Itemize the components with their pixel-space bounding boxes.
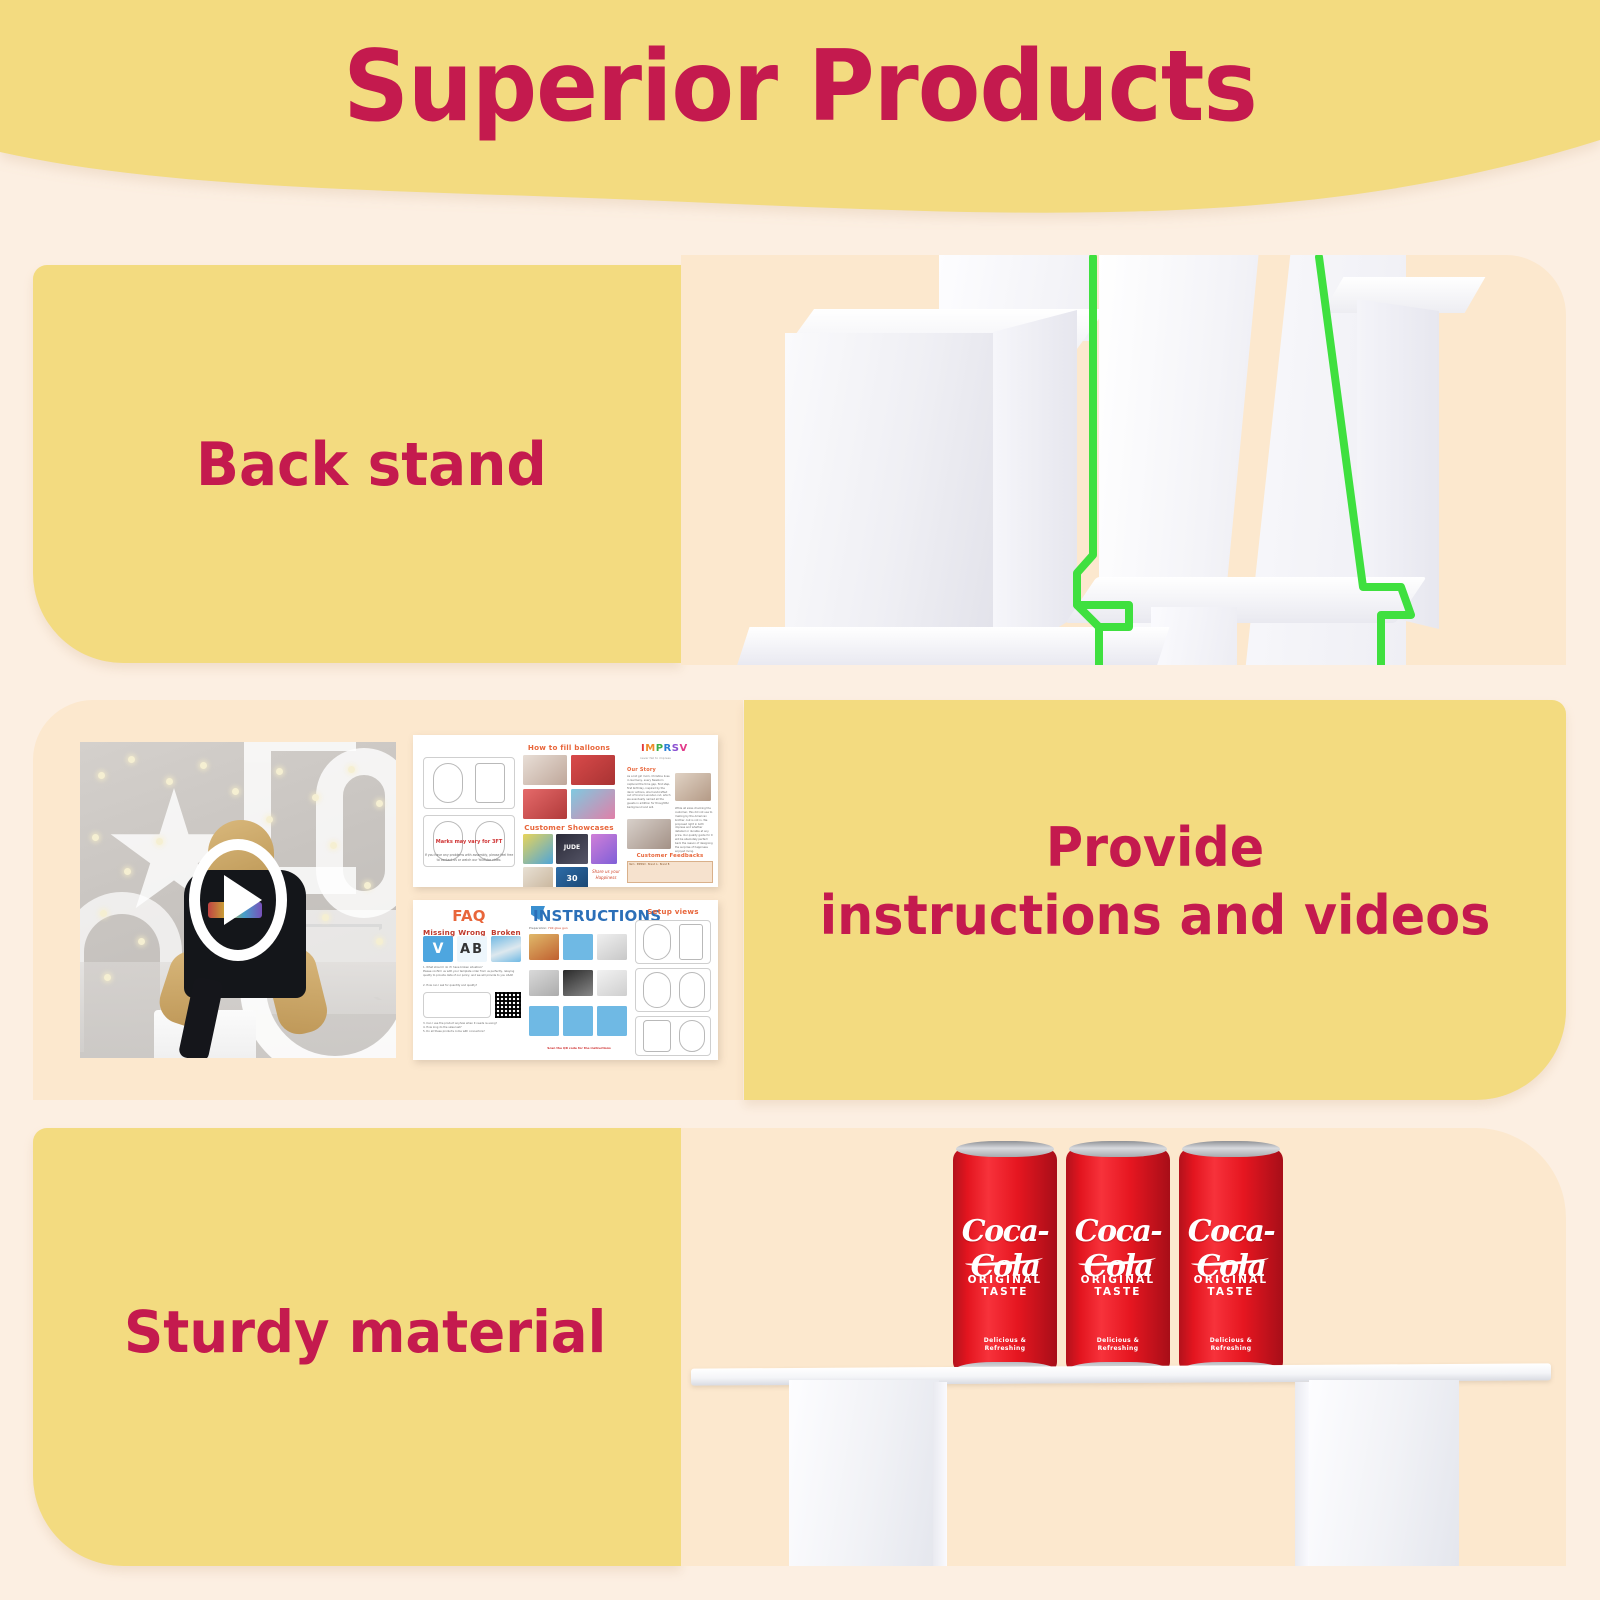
coke-can-3: Coca-Cola ORIGINAL TASTE Delicious &Refr… <box>1179 1148 1283 1372</box>
coke-footer-2: Delicious &Refreshing <box>1066 1337 1170 1354</box>
coke-can-2: Coca-Cola ORIGINAL TASTE Delicious &Refr… <box>1066 1148 1170 1372</box>
coke-footer-3: Delicious &Refreshing <box>1179 1337 1283 1354</box>
stand-box-front <box>785 333 993 665</box>
sheet-note-body: If you have any problems with assembly, … <box>423 853 515 862</box>
can-top-lid <box>1069 1141 1167 1157</box>
instructions-label-line1: Provide <box>769 818 1542 878</box>
sheet-heading-instructions: INSTRUCTIONS <box>533 907 633 925</box>
instruction-sheet-back: FAQ Missing pieces Wrong item Broken boa… <box>413 900 718 1060</box>
can-top-lid <box>956 1141 1054 1157</box>
stand-box-side <box>993 310 1077 665</box>
ab-letter-b: B <box>472 942 484 957</box>
sturdy-material-label: Sturdy material <box>124 1300 606 1365</box>
showcase-word-jude: JUDE <box>556 843 588 852</box>
shelf-leg-right <box>1309 1380 1459 1566</box>
imprsv-logo: IMPRSV <box>641 743 688 754</box>
marquee-number-0 <box>316 748 396 918</box>
stand-bottom-bar <box>737 627 1170 665</box>
page-title: Superior Products <box>56 30 1544 144</box>
stand-base-plate <box>1065 577 1426 623</box>
sheet-heading-faq: FAQ <box>421 907 517 925</box>
sheet-heading-setup-views: Setup views <box>635 907 711 916</box>
coke-tagline-1: ORIGINAL TASTE <box>953 1274 1057 1298</box>
sheet-heading-showcases: Customer Showcases <box>521 823 617 832</box>
sturdy-material-photo: Coca-Cola ORIGINAL TASTE Delicious &Refr… <box>681 1128 1566 1566</box>
prep-value: Hot glue gun <box>548 926 567 930</box>
back-stand-photo <box>681 255 1566 665</box>
sheet-heading-fill-balloons: How to fill balloons <box>521 743 617 752</box>
back-stand-label-panel: Back stand <box>33 265 681 663</box>
instruction-sheet-front: Marks may vary for 3FT If you have any p… <box>413 735 718 887</box>
imprsv-tagline: never fail to impress <box>640 756 671 760</box>
prep-label: Preparation: <box>529 926 547 930</box>
sheet-note-red: Marks may vary for 3FT <box>421 839 517 847</box>
showcase-word-30: 30 <box>556 873 588 885</box>
coke-tagline-3: ORIGINAL TASTE <box>1179 1274 1283 1298</box>
can-top-lid <box>1182 1141 1280 1157</box>
sheet-heading-our-story: Our Story <box>627 767 667 773</box>
sheet-footer-note: Scan the QR code for the instructions <box>529 1046 629 1051</box>
sturdy-material-label-panel: Sturdy material <box>33 1128 681 1566</box>
coke-can-1: Coca-Cola ORIGINAL TASTE Delicious &Refr… <box>953 1148 1057 1372</box>
page-header: Superior Products <box>0 0 1600 230</box>
instructions-label-panel: Provide instructions and videos <box>744 700 1566 1100</box>
back-stand-label: Back stand <box>196 432 547 499</box>
coke-tagline-2: ORIGINAL TASTE <box>1066 1274 1170 1298</box>
shelf-rib-left <box>933 1382 947 1566</box>
play-icon[interactable] <box>189 839 287 961</box>
coke-footer-1: Delicious &Refreshing <box>953 1337 1057 1354</box>
shelf-leg-left <box>789 1380 939 1566</box>
ab-letter-a: A <box>460 942 472 957</box>
sheet-script-caption: Share us your Happiness <box>591 869 621 881</box>
instructions-label-line2: instructions and videos <box>769 886 1542 946</box>
shelf-rib-right <box>1295 1382 1309 1566</box>
instructions-media-panel: Marks may vary for 3FT If you have any p… <box>33 700 743 1100</box>
sheet-heading-feedbacks: Customer Feedbacks <box>627 853 713 859</box>
assembly-video-thumbnail[interactable] <box>80 742 396 1058</box>
